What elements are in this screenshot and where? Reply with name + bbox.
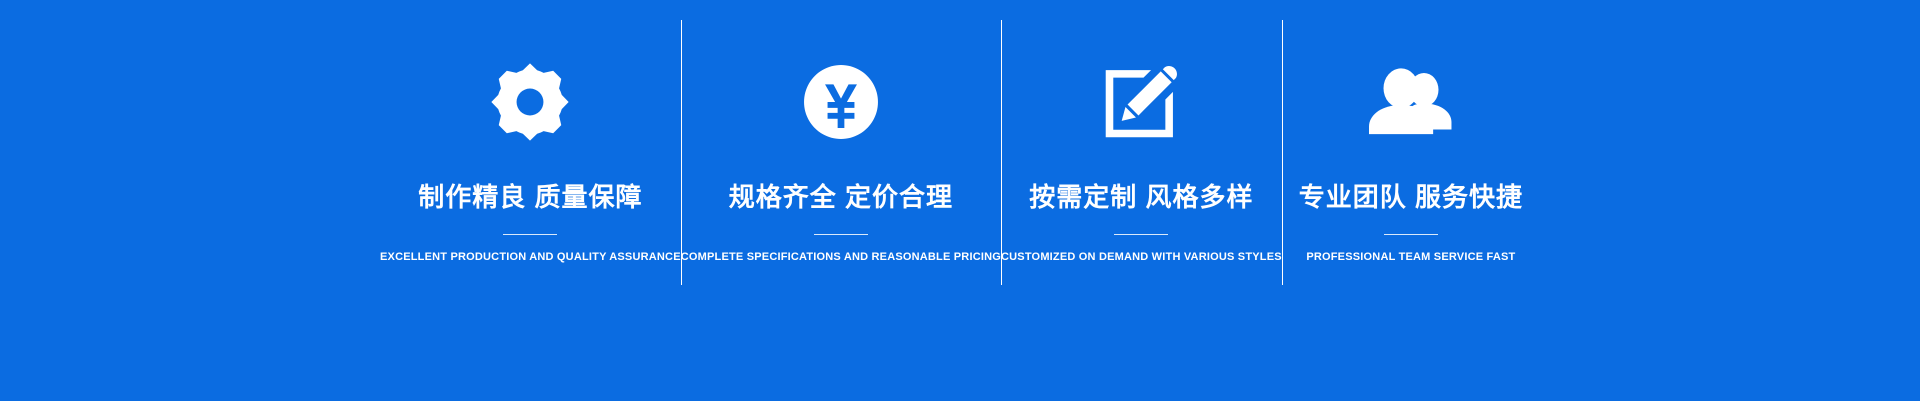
gear-icon	[488, 60, 572, 144]
feature-subtitle: EXCELLENT PRODUCTION AND QUALITY ASSURAN…	[380, 252, 681, 263]
feature-title: 制作精良 质量保障	[418, 184, 642, 210]
feature-subtitle: CUSTOMIZED ON DEMAND WITH VARIOUS STYLES	[1001, 252, 1282, 263]
feature-item-quality[interactable]: 制作精良 质量保障 EXCELLENT PRODUCTION AND QUALI…	[380, 0, 681, 330]
feature-subtitle: PROFESSIONAL TEAM SERVICE FAST	[1306, 252, 1515, 263]
feature-banner: 制作精良 质量保障 EXCELLENT PRODUCTION AND QUALI…	[0, 0, 1920, 401]
yuan-coin-icon	[799, 60, 883, 144]
feature-item-team[interactable]: 专业团队 服务快捷 PROFESSIONAL TEAM SERVICE FAST	[1282, 0, 1540, 330]
feature-item-pricing[interactable]: 规格齐全 定价合理 COMPLETE SPECIFICATIONS AND RE…	[681, 0, 1001, 330]
feature-subtitle: COMPLETE SPECIFICATIONS AND REASONABLE P…	[681, 252, 1001, 263]
feature-divider	[1384, 234, 1438, 235]
feature-list: 制作精良 质量保障 EXCELLENT PRODUCTION AND QUALI…	[380, 0, 1540, 330]
feature-item-customization[interactable]: 按需定制 风格多样 CUSTOMIZED ON DEMAND WITH VARI…	[1001, 0, 1282, 330]
edit-pencil-icon	[1099, 60, 1183, 144]
feature-title: 规格齐全 定价合理	[729, 184, 953, 210]
users-team-icon	[1369, 60, 1453, 144]
feature-title: 按需定制 风格多样	[1029, 184, 1253, 210]
feature-title: 专业团队 服务快捷	[1299, 184, 1523, 210]
feature-divider	[1114, 234, 1168, 235]
feature-divider	[814, 234, 868, 235]
feature-divider	[503, 234, 557, 235]
